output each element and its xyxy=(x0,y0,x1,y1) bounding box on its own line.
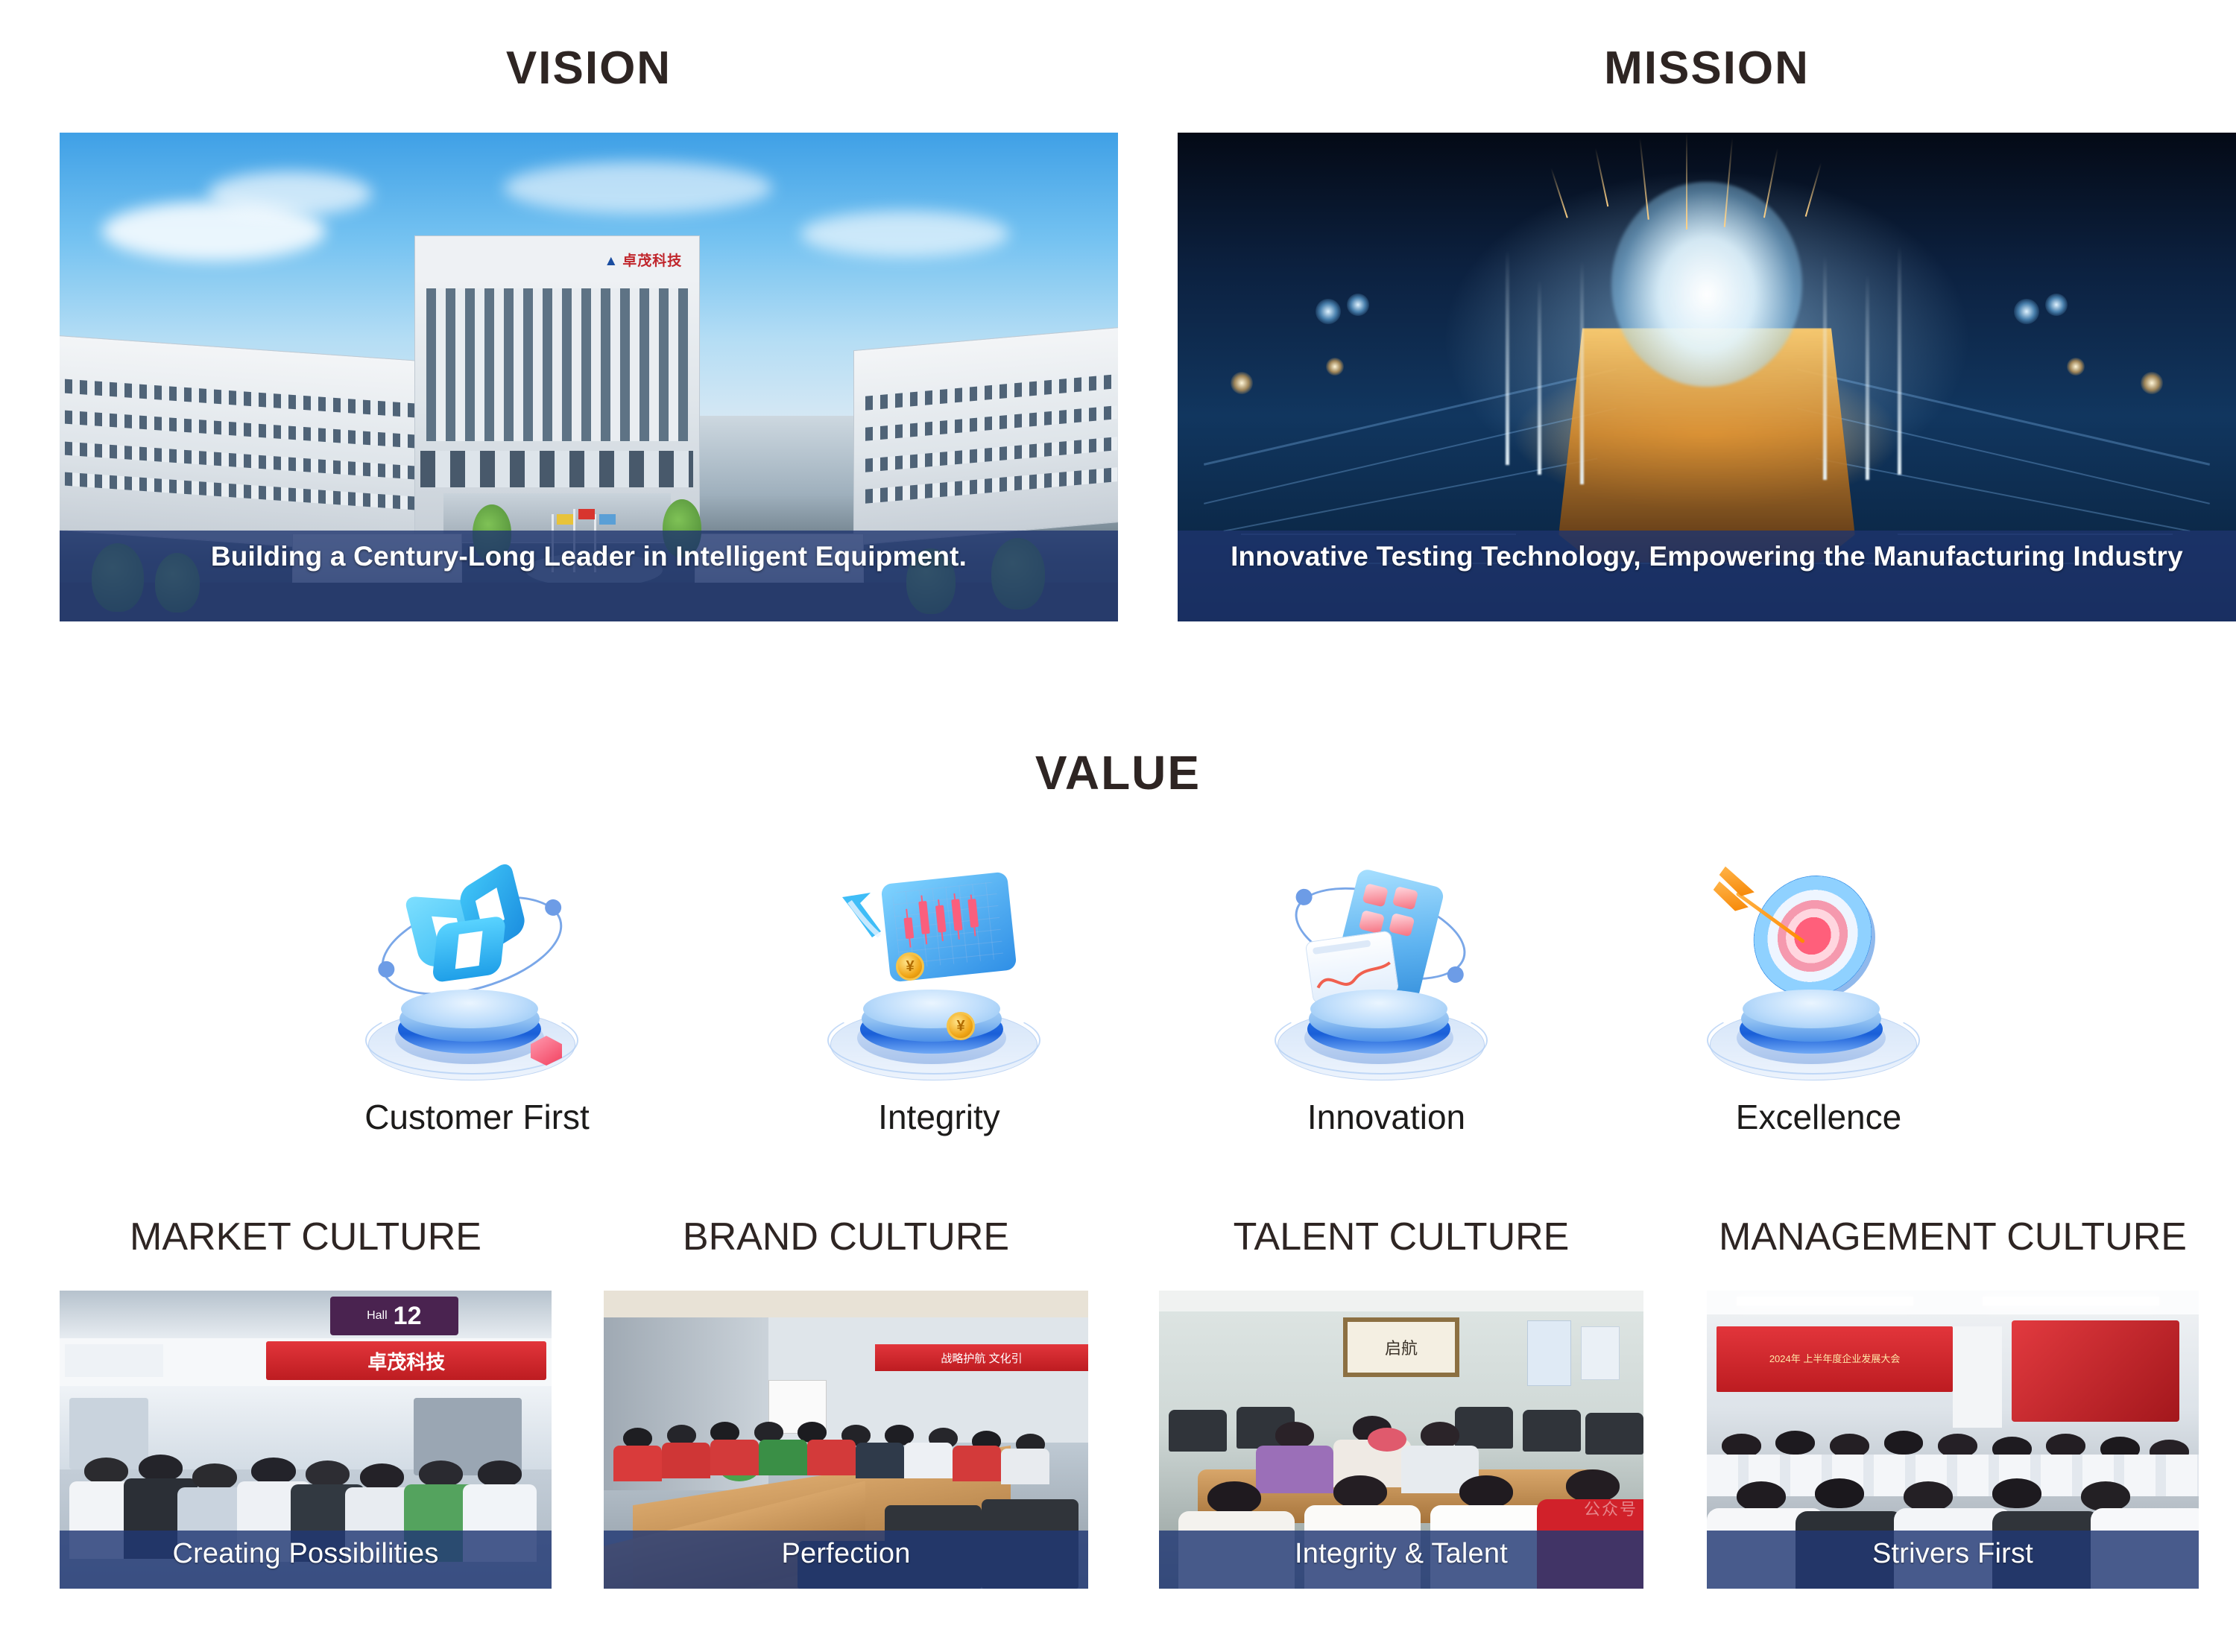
left-wing-building xyxy=(60,335,430,557)
value-item-excellence[interactable]: Excellence xyxy=(1610,872,2027,1137)
right-wing-building xyxy=(853,326,1118,545)
flag xyxy=(599,514,616,525)
up-arrow-icon xyxy=(838,890,891,943)
value-item-customer-first[interactable]: Customer First xyxy=(268,872,686,1137)
culture-caption-brand: Perfection xyxy=(604,1531,1088,1589)
cloud-shape xyxy=(504,162,772,214)
wall-banner-text: 战略护航 文化引 xyxy=(941,1350,1022,1366)
vision-caption: Building a Century-Long Leader in Intell… xyxy=(60,531,1118,621)
value-item-innovation[interactable]: Innovation xyxy=(1178,872,1595,1137)
pedestal-shape xyxy=(841,984,1027,1080)
main-tower-building: ▲卓茂科技 xyxy=(414,235,700,543)
value-section-title: VALUE xyxy=(0,745,2236,800)
coin-icon: ¥ xyxy=(896,952,924,981)
pedestal-shape xyxy=(379,984,565,1080)
value-item-label: Innovation xyxy=(1178,1097,1595,1137)
tablet-orbit-pedestal-icon xyxy=(1275,872,1498,1088)
booth-brand-text: 卓茂科技 xyxy=(367,1347,445,1375)
culture-card-management[interactable]: 2024年 上半年度企业发展大会 Strive xyxy=(1707,1291,2199,1589)
flag xyxy=(557,514,573,525)
value-item-integrity[interactable]: ¥ ¥ Integrity xyxy=(730,872,1148,1137)
cube-people-pedestal-icon xyxy=(365,872,589,1088)
hall-number: 12 xyxy=(394,1302,422,1331)
hall-label: Hall xyxy=(367,1309,388,1323)
value-item-label: Integrity xyxy=(730,1097,1148,1137)
photo-watermark: 公众号 xyxy=(1584,1496,1637,1520)
mission-section-title: MISSION xyxy=(1178,42,2236,95)
coin-icon: ¥ xyxy=(947,1012,975,1040)
culture-caption-market: Creating Possibilities xyxy=(60,1531,552,1589)
calligraphy-text: 启航 xyxy=(1385,1335,1418,1359)
hall-sign: Hall 12 xyxy=(330,1297,458,1335)
calligraphy-scroll: 启航 xyxy=(1343,1317,1459,1377)
culture-caption-talent: Integrity & Talent xyxy=(1159,1531,1643,1589)
culture-caption-management: Strivers First xyxy=(1707,1531,2199,1589)
stage-led-screen xyxy=(2012,1320,2179,1422)
culture-card-talent[interactable]: 启航 xyxy=(1159,1291,1643,1589)
culture-title-talent: TALENT CULTURE xyxy=(1159,1215,1643,1259)
tower-logo-mark: ▲ xyxy=(604,253,619,269)
value-items-row: Customer First xyxy=(0,872,2236,1185)
value-item-label: Customer First xyxy=(268,1097,686,1137)
tower-logo: ▲卓茂科技 xyxy=(604,250,682,270)
culture-card-brand[interactable]: 战略护航 文化引 xyxy=(604,1291,1088,1589)
tower-logo-text: 卓茂科技 xyxy=(622,253,682,269)
booth-brand-banner: 卓茂科技 xyxy=(266,1341,546,1380)
pedestal-shape xyxy=(1720,984,1907,1080)
chart-monitor-coins-pedestal-icon: ¥ ¥ xyxy=(827,872,1051,1088)
cloud-shape xyxy=(208,171,372,216)
culture-title-management: MANAGEMENT CULTURE xyxy=(1707,1215,2199,1259)
light-orb xyxy=(1611,182,1802,387)
pedestal-shape xyxy=(1288,984,1474,1080)
culture-title-market: MARKET CULTURE xyxy=(60,1215,552,1259)
culture-card-market[interactable]: Hall 12 卓茂科技 xyxy=(60,1291,552,1589)
flag xyxy=(578,509,595,519)
page-root: VISION xyxy=(0,0,2236,1652)
wall-banner: 战略护航 文化引 xyxy=(875,1344,1088,1371)
meeting-banner: 2024年 上半年度企业发展大会 xyxy=(1717,1326,1953,1392)
vision-photo-card[interactable]: ▲卓茂科技 Building a Century-Lo xyxy=(60,133,1118,621)
meeting-banner-text: 2024年 上半年度企业发展大会 xyxy=(1769,1352,1901,1366)
cloud-shape xyxy=(800,211,1009,257)
value-item-label: Excellence xyxy=(1610,1097,2027,1137)
culture-title-brand: BRAND CULTURE xyxy=(604,1215,1088,1259)
target-arrow-pedestal-icon xyxy=(1707,872,1930,1088)
mission-caption: Innovative Testing Technology, Empowerin… xyxy=(1178,531,2236,621)
mission-photo-card[interactable]: Innovative Testing Technology, Empowerin… xyxy=(1178,133,2236,621)
vision-section-title: VISION xyxy=(60,42,1118,95)
